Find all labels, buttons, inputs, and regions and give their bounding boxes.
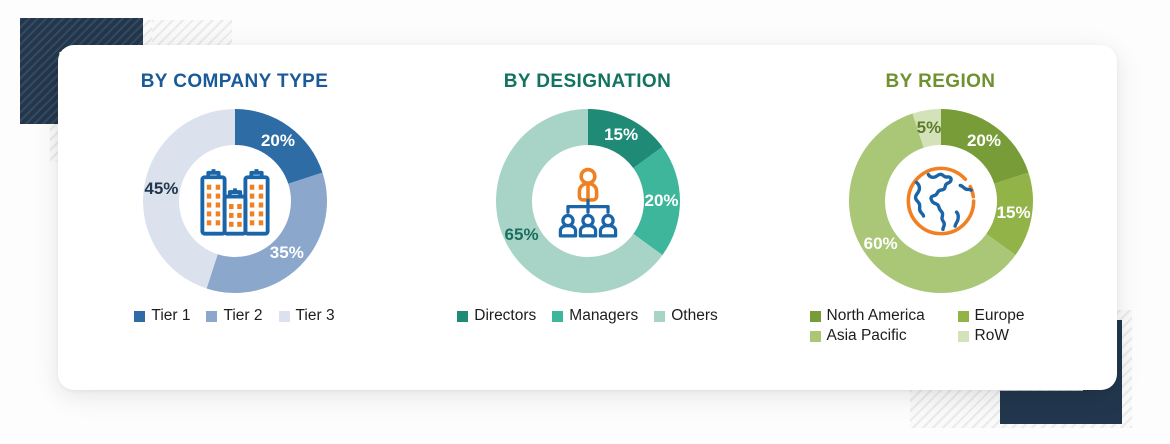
slice-percentage-label: 5% xyxy=(917,118,942,138)
panel-by-region: BY REGION 20%15%60%5% North America xyxy=(764,45,1117,390)
legend-label: Europe xyxy=(975,307,1025,325)
slice-percentage-label: 60% xyxy=(864,234,898,254)
donut-chart-designation: 15%20%65% xyxy=(488,101,688,301)
slice-percentage-label: 45% xyxy=(144,179,178,199)
legend-item[interactable]: Europe xyxy=(958,307,1090,325)
legend-item[interactable]: Tier 2 xyxy=(206,307,262,325)
legend-item[interactable]: Others xyxy=(654,307,718,325)
legend-designation: Directors Managers Others xyxy=(457,307,717,325)
legend-label: RoW xyxy=(975,327,1009,345)
panel-by-company-type: BY COMPANY TYPE xyxy=(58,45,411,390)
legend-item[interactable]: RoW xyxy=(958,327,1090,345)
legend-label: Directors xyxy=(474,307,536,325)
slice-percentage-label: 65% xyxy=(505,225,539,245)
donut-chart-region: 20%15%60%5% xyxy=(841,101,1041,301)
legend-label: Tier 2 xyxy=(223,307,262,325)
slice-percentage-label: 20% xyxy=(644,191,678,211)
legend-company-type: Tier 1 Tier 2 Tier 3 xyxy=(134,307,334,325)
legend-swatch xyxy=(958,311,969,322)
slice-percentage-label: 20% xyxy=(967,131,1001,151)
slice-percentage-label: 20% xyxy=(261,131,295,151)
charts-card: BY COMPANY TYPE xyxy=(58,45,1117,390)
legend-swatch xyxy=(654,311,665,322)
legend-item[interactable]: Asia Pacific xyxy=(810,327,942,345)
legend-swatch xyxy=(958,331,969,342)
legend-swatch xyxy=(552,311,563,322)
legend-region: North America Europe Asia Pacific RoW xyxy=(792,307,1090,345)
legend-label: Asia Pacific xyxy=(827,327,907,345)
org-chart-people-icon xyxy=(542,155,634,247)
legend-item[interactable]: Managers xyxy=(552,307,638,325)
legend-item[interactable]: Tier 1 xyxy=(134,307,190,325)
panel-title-region: BY REGION xyxy=(886,71,996,93)
panel-by-designation: BY DESIGNATION xyxy=(411,45,764,390)
legend-swatch xyxy=(206,311,217,322)
legend-label: Others xyxy=(671,307,718,325)
legend-item[interactable]: North America xyxy=(810,307,942,325)
legend-swatch xyxy=(279,311,290,322)
legend-item[interactable]: Directors xyxy=(457,307,536,325)
slice-percentage-label: 35% xyxy=(270,243,304,263)
legend-label: North America xyxy=(827,307,925,325)
legend-swatch xyxy=(457,311,468,322)
legend-label: Tier 1 xyxy=(151,307,190,325)
panel-title-designation: BY DESIGNATION xyxy=(504,71,671,93)
panel-title-company-type: BY COMPANY TYPE xyxy=(141,71,329,93)
office-buildings-icon xyxy=(189,155,281,247)
legend-swatch xyxy=(810,331,821,342)
legend-item[interactable]: Tier 3 xyxy=(279,307,335,325)
globe-icon xyxy=(895,155,987,247)
slice-percentage-label: 15% xyxy=(604,125,638,145)
donut-chart-company-type: 20%35%45% xyxy=(135,101,335,301)
legend-label: Tier 3 xyxy=(296,307,335,325)
legend-swatch xyxy=(134,311,145,322)
slice-percentage-label: 15% xyxy=(997,203,1031,223)
legend-label: Managers xyxy=(569,307,638,325)
legend-swatch xyxy=(810,311,821,322)
